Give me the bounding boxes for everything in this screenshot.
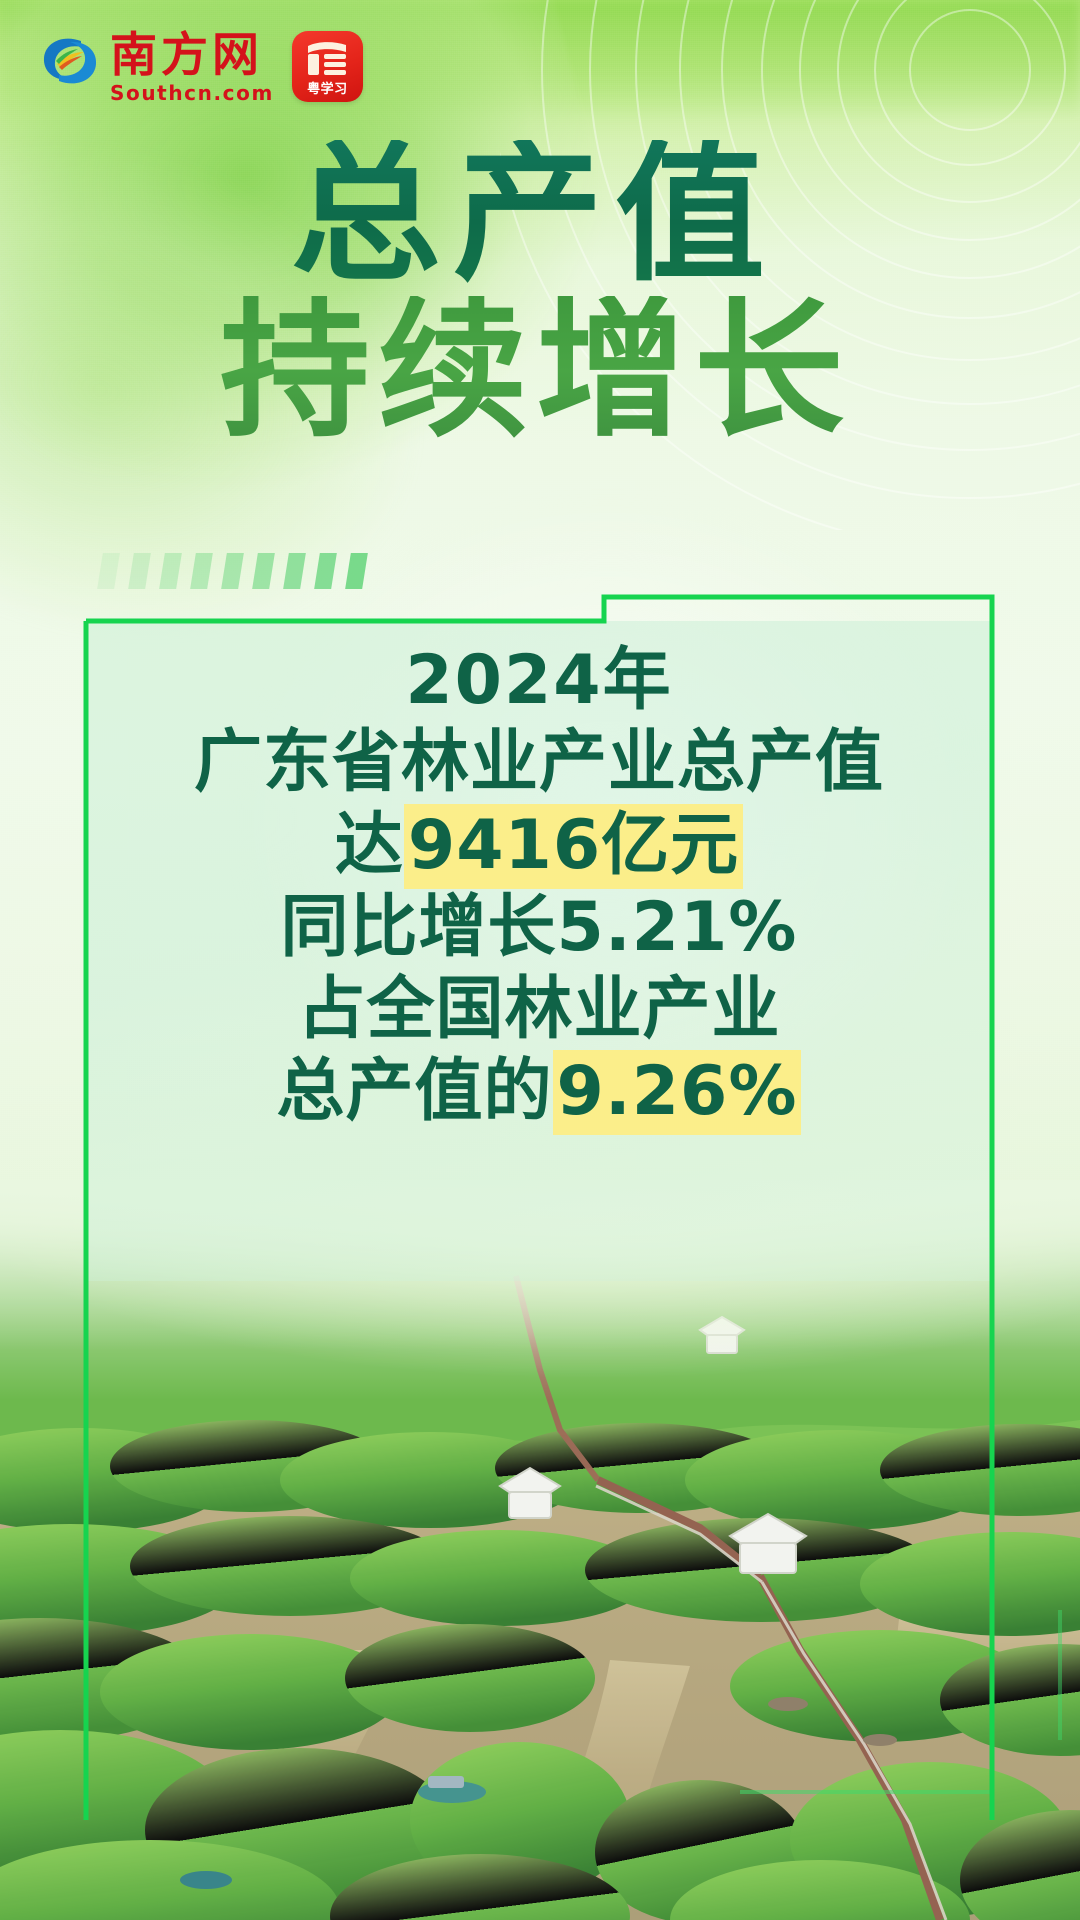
headline-line-1: 总产值 [0, 140, 1080, 290]
dash-mark [283, 553, 306, 589]
dash-mark [97, 553, 120, 589]
book-app-icon [304, 40, 351, 78]
copy-total-value: 达9416亿元 [86, 805, 992, 887]
copy-share-value: 总产值的9.26% [86, 1051, 992, 1133]
swoosh-logo-icon [40, 30, 100, 92]
copy-share-label: 占全国林业产业 [86, 969, 992, 1051]
statistics-copy: 2024年 广东省林业产业总产值 达9416亿元 同比增长5.21% 占全国林业… [86, 640, 992, 1134]
dash-mark [345, 553, 368, 589]
southcn-cn-name: 南方网 [110, 32, 274, 80]
logo-bar: 南方网 Southcn.com 粤学习 [40, 30, 363, 103]
copy-year: 2024年 [86, 640, 992, 722]
decorative-dash-strip [100, 553, 365, 589]
dash-mark [252, 553, 275, 589]
dash-mark [159, 553, 182, 589]
copy-total-value-highlight: 9416亿元 [404, 804, 743, 889]
southcn-domain: Southcn.com [110, 83, 274, 103]
poster-root: 南方网 Southcn.com 粤学习 总产值 持续增长 [0, 0, 1080, 1920]
dash-mark [221, 553, 244, 589]
copy-subject: 广东省林业产业总产值 [86, 722, 992, 804]
yuexuexi-label: 粤学习 [307, 78, 348, 97]
copy-total-value-prefix: 达 [335, 806, 404, 885]
dash-mark [128, 553, 151, 589]
copy-share-value-prefix: 总产值的 [277, 1052, 553, 1131]
headline: 总产值 持续增长 [0, 140, 1080, 446]
yuexuexi-app-icon[interactable]: 粤学习 [292, 31, 363, 102]
dash-mark [314, 553, 337, 589]
copy-share-value-highlight: 9.26% [553, 1050, 802, 1135]
copy-growth: 同比增长5.21% [86, 887, 992, 969]
headline-line-2: 持续增长 [0, 296, 1080, 446]
dash-mark [190, 553, 213, 589]
southcn-logo[interactable]: 南方网 Southcn.com [40, 30, 274, 103]
